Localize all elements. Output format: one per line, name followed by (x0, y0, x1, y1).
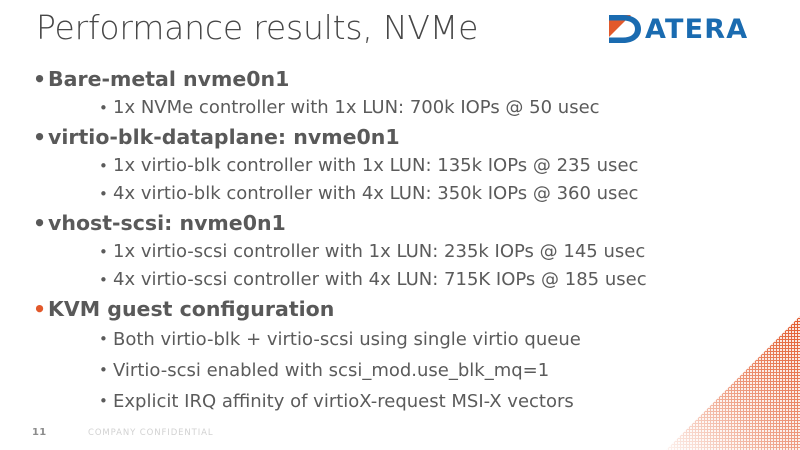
datera-logo-icon: ATERA (607, 13, 783, 45)
bullet-group: •vhost-scsi: nvme0n1•1x virtio-scsi cont… (0, 208, 690, 294)
bullet-level2-label: Explicit IRQ affinity of virtioX-request… (113, 391, 574, 412)
bullet-marker-icon: • (99, 324, 108, 355)
slide: Performance results, NVMe ATERA •Bare-me… (0, 0, 800, 450)
bullet-group: •KVM guest configuration•Both virtio-blk… (0, 294, 690, 417)
bullet-level2-label: 4x virtio-scsi controller with 4x LUN: 7… (113, 269, 647, 290)
bullet-level2: •4x virtio-blk controller with 4x LUN: 3… (0, 180, 690, 208)
bullet-marker-icon: • (99, 355, 108, 386)
bullet-marker-icon: • (99, 386, 108, 417)
confidentiality-notice: COMPANY CONFIDENTIAL (88, 428, 214, 438)
svg-text:ATERA: ATERA (645, 14, 748, 45)
bullet-level2-label: 1x NVMe controller with 1x LUN: 700k IOP… (113, 97, 600, 118)
bullet-marker-icon: • (33, 122, 46, 152)
bullet-level1: •KVM guest configuration (0, 294, 690, 324)
bullet-level1-label: KVM guest configuration (48, 297, 334, 321)
bullet-marker-icon: • (33, 64, 46, 94)
page-title: Performance results, NVMe (36, 8, 478, 47)
bullet-level2: •Explicit IRQ affinity of virtioX-reques… (0, 386, 690, 417)
bullet-level1: •virtio-blk-dataplane: nvme0n1 (0, 122, 690, 152)
bullet-level2-label: Both virtio-blk + virtio-scsi using sing… (113, 329, 581, 350)
bullet-level1-label: vhost-scsi: nvme0n1 (48, 211, 286, 235)
bullet-level2: •1x virtio-scsi controller with 1x LUN: … (0, 238, 690, 266)
bullet-group: •Bare-metal nvme0n1•1x NVMe controller w… (0, 64, 690, 122)
slide-footer: 11 COMPANY CONFIDENTIAL (0, 416, 800, 450)
bullet-marker-icon: • (99, 152, 108, 180)
bullet-level1: •Bare-metal nvme0n1 (0, 64, 690, 94)
bullet-level2: •4x virtio-scsi controller with 4x LUN: … (0, 266, 690, 294)
bullet-level2: •Virtio-scsi enabled with scsi_mod.use_b… (0, 355, 690, 386)
bullet-marker-icon: • (99, 266, 108, 294)
bullet-level2-label: 1x virtio-scsi controller with 1x LUN: 2… (113, 241, 645, 262)
bullet-level2: •1x virtio-blk controller with 1x LUN: 1… (0, 152, 690, 180)
slide-header: Performance results, NVMe ATERA (0, 0, 800, 62)
bullet-marker-icon: • (99, 94, 108, 122)
page-number: 11 (32, 427, 47, 438)
slide-body: •Bare-metal nvme0n1•1x NVMe controller w… (0, 64, 690, 417)
bullet-group: •virtio-blk-dataplane: nvme0n1•1x virtio… (0, 122, 690, 208)
bullet-level1-label: virtio-blk-dataplane: nvme0n1 (48, 125, 400, 149)
bullet-marker-icon: • (33, 208, 46, 238)
bullet-level2-label: Virtio-scsi enabled with scsi_mod.use_bl… (113, 360, 549, 381)
bullet-level1: •vhost-scsi: nvme0n1 (0, 208, 690, 238)
bullet-marker-icon: • (99, 238, 108, 266)
bullet-level2: •1x NVMe controller with 1x LUN: 700k IO… (0, 94, 690, 122)
bullet-level1-label: Bare-metal nvme0n1 (48, 67, 289, 91)
bullet-level2-label: 4x virtio-blk controller with 4x LUN: 35… (113, 183, 638, 204)
bullet-level2: •Both virtio-blk + virtio-scsi using sin… (0, 324, 690, 355)
bullet-marker-icon: • (99, 180, 108, 208)
bullet-marker-icon: • (33, 294, 46, 324)
bullet-level2-label: 1x virtio-blk controller with 1x LUN: 13… (113, 155, 638, 176)
